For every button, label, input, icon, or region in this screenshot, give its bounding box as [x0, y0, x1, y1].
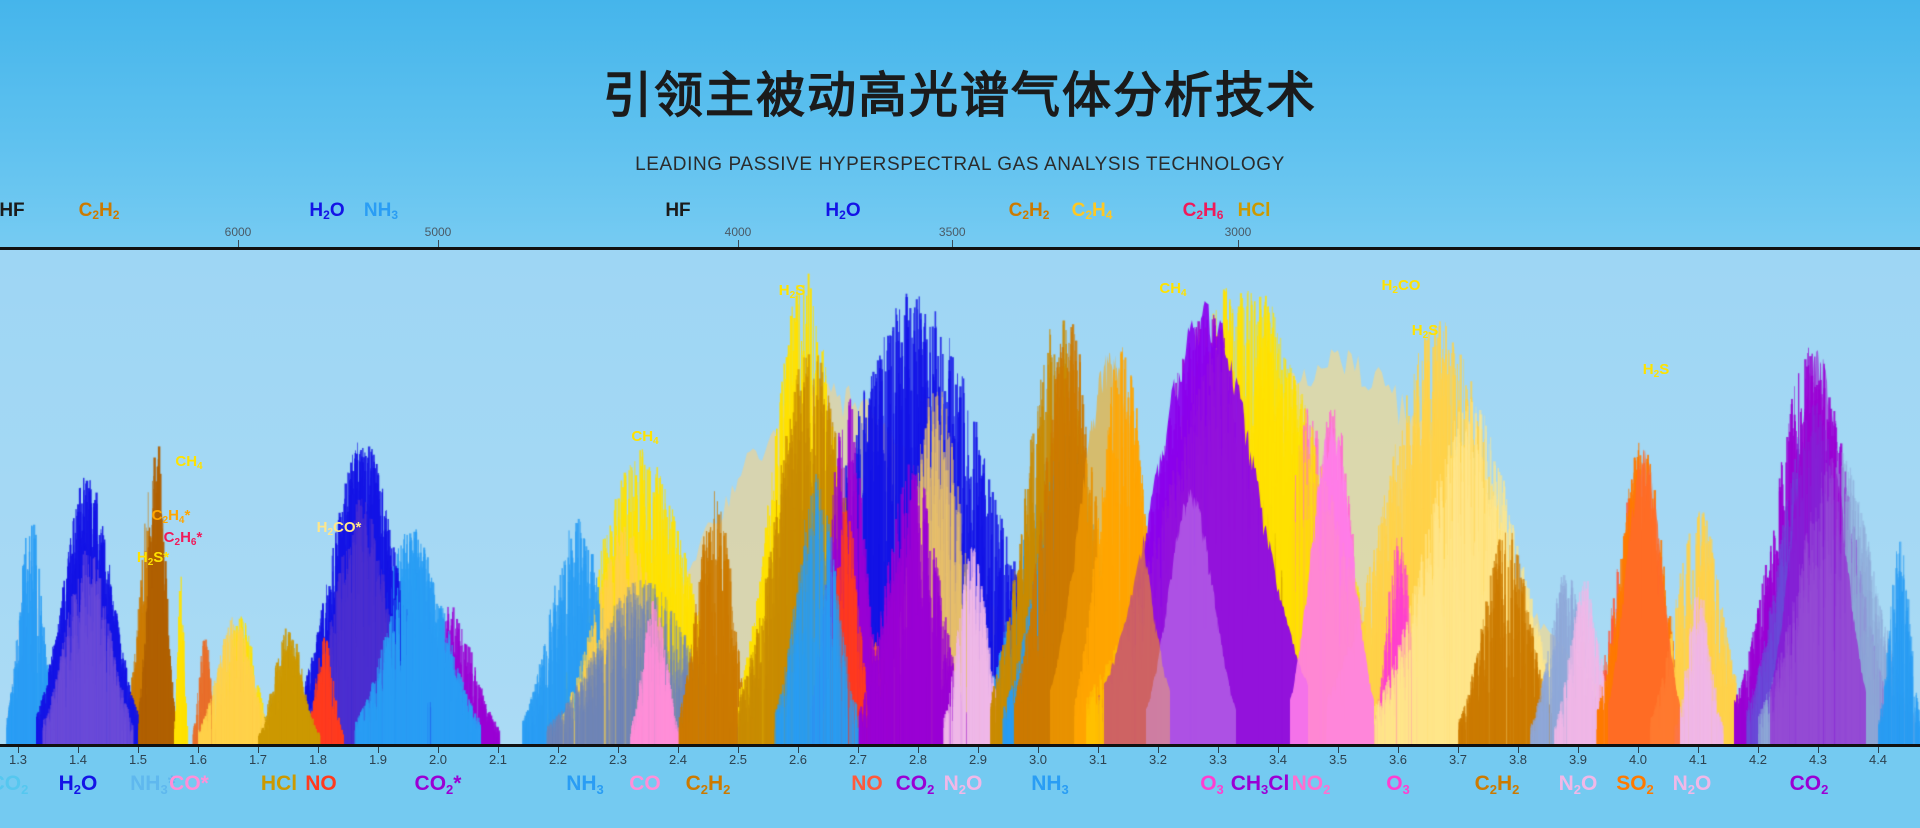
- top-tick-label-4000: 4000: [725, 225, 752, 239]
- top-gas-label-h2o: H2O: [825, 200, 860, 222]
- top-tick-label-6000: 6000: [225, 225, 252, 239]
- bottom-gas-label-n2o: N2O: [944, 772, 983, 796]
- spectrum-plot[interactable]: CH4C2H4*C2H6*H2S*H2CO*CH4H2SCH4H2COH2SH2…: [0, 250, 1920, 744]
- bottom-tick-label-2-4: 2.4: [669, 752, 687, 767]
- bottom-tick-mark-2-1: [498, 747, 499, 753]
- bottom-tick-mark-2-4: [678, 747, 679, 753]
- bottom-tick-label-1-5: 1.5: [129, 752, 147, 767]
- bottom-gas-label-hcl: HCl: [261, 772, 297, 796]
- bottom-tick-mark-3-2: [1158, 747, 1159, 753]
- bottom-tick-label-4-3: 4.3: [1809, 752, 1827, 767]
- bottom-tick-label-1-3: 1.3: [9, 752, 27, 767]
- bottom-tick-label-1-9: 1.9: [369, 752, 387, 767]
- bottom-tick-mark-4: [1638, 747, 1639, 753]
- bottom-tick-label-2-6: 2.6: [789, 752, 807, 767]
- top-gas-label-c2h4: C2H4: [1072, 200, 1113, 222]
- bottom-tick-mark-3-1: [1098, 747, 1099, 753]
- top-tick-label-5000: 5000: [425, 225, 452, 239]
- bottom-tick-label-3-9: 3.9: [1569, 752, 1587, 767]
- bottom-tick-label-3-8: 3.8: [1509, 752, 1527, 767]
- top-gas-label-c2h2: C2H2: [1009, 200, 1050, 222]
- bottom-tick-label-1-4: 1.4: [69, 752, 87, 767]
- bottom-gas-label-h2o: H2O: [59, 772, 98, 796]
- bottom-gas-label-co2: CO2: [0, 772, 28, 796]
- bottom-tick-label-1-6: 1.6: [189, 752, 207, 767]
- bottom-tick-mark-3: [1038, 747, 1039, 753]
- bottom-tick-label-3-7: 3.7: [1449, 752, 1467, 767]
- bottom-tick-label-2-1: 2.1: [489, 752, 507, 767]
- bottom-tick-mark-2-7: [858, 747, 859, 753]
- page-subtitle: LEADING PASSIVE HYPERSPECTRAL GAS ANALYS…: [0, 154, 1920, 176]
- bottom-gas-label-nh3: NH3: [1031, 772, 1069, 796]
- bottom-gas-label-n2o: N2O: [1673, 772, 1712, 796]
- bottom-tick-mark-3-4: [1278, 747, 1279, 753]
- bottom-tick-mark-1-6: [198, 747, 199, 753]
- bottom-tick-label-3-2: 3.2: [1149, 752, 1167, 767]
- bottom-tick-label-2-9: 2.9: [969, 752, 987, 767]
- bottom-gas-label-co2: CO2: [896, 772, 935, 796]
- bottom-gas-label-so2: SO2: [1616, 772, 1654, 796]
- bottom-tick-mark-1-8: [318, 747, 319, 753]
- top-gas-label-hcl: HCl: [1238, 200, 1271, 222]
- bottom-gas-label-co: CO*: [169, 772, 209, 796]
- top-tick-label-3500: 3500: [939, 225, 966, 239]
- bottom-gas-label-c2h2: C2H2: [1475, 772, 1520, 796]
- bottom-axis-line: [0, 744, 1920, 747]
- bottom-tick-mark-4-2: [1758, 747, 1759, 753]
- top-tick-mark-4000: [738, 240, 739, 247]
- bottom-tick-mark-2-6: [798, 747, 799, 753]
- bottom-tick-label-1-8: 1.8: [309, 752, 327, 767]
- bottom-tick-mark-2-5: [738, 747, 739, 753]
- bottom-gas-label-co2: CO2: [1790, 772, 1829, 796]
- bottom-gas-label-c2h2: C2H2: [686, 772, 731, 796]
- bottom-gas-label-n2o: N2O: [1559, 772, 1598, 796]
- bottom-gas-label-no: NO: [851, 772, 883, 796]
- top-tick-label-3000: 3000: [1225, 225, 1252, 239]
- bottom-tick-label-2-3: 2.3: [609, 752, 627, 767]
- bottom-tick-mark-1-9: [378, 747, 379, 753]
- bottom-tick-mark-2-3: [618, 747, 619, 753]
- bottom-tick-label-4: 4.0: [1629, 752, 1647, 767]
- top-tick-mark-3000: [1238, 240, 1239, 247]
- bottom-tick-label-2-8: 2.8: [909, 752, 927, 767]
- bottom-tick-label-3: 3.0: [1029, 752, 1047, 767]
- bottom-tick-label-2: 2.0: [429, 752, 447, 767]
- bottom-tick-mark-1-7: [258, 747, 259, 753]
- bottom-tick-label-3-5: 3.5: [1329, 752, 1347, 767]
- bottom-tick-mark-1-5: [138, 747, 139, 753]
- bottom-tick-label-2-7: 2.7: [849, 752, 867, 767]
- bottom-gas-label-nh3: NH3: [566, 772, 604, 796]
- bottom-tick-mark-2-9: [978, 747, 979, 753]
- top-gas-label-hf: HF: [0, 200, 25, 222]
- bottom-gas-label-ch3cl: CH3Cl: [1231, 772, 1290, 796]
- bottom-tick-mark-2: [438, 747, 439, 753]
- bottom-tick-label-1-7: 1.7: [249, 752, 267, 767]
- bottom-tick-mark-2-8: [918, 747, 919, 753]
- bottom-tick-mark-4-1: [1698, 747, 1699, 753]
- bottom-tick-label-2-5: 2.5: [729, 752, 747, 767]
- bottom-tick-label-3-1: 3.1: [1089, 752, 1107, 767]
- top-gas-label-c2h2: C2H2: [79, 200, 120, 222]
- bottom-tick-label-4-2: 4.2: [1749, 752, 1767, 767]
- bottom-tick-mark-1-3: [18, 747, 19, 753]
- bottom-tick-mark-1-4: [78, 747, 79, 753]
- bottom-tick-mark-3-9: [1578, 747, 1579, 753]
- bottom-tick-label-3-3: 3.3: [1209, 752, 1227, 767]
- top-gas-label-nh3: NH3: [364, 200, 398, 222]
- bottom-tick-mark-3-7: [1458, 747, 1459, 753]
- bottom-tick-mark-3-3: [1218, 747, 1219, 753]
- bottom-gas-label-co: CO: [629, 772, 661, 796]
- bottom-tick-label-3-4: 3.4: [1269, 752, 1287, 767]
- bottom-tick-mark-4-3: [1818, 747, 1819, 753]
- bottom-tick-label-2-2: 2.2: [549, 752, 567, 767]
- top-gas-label-h2o: H2O: [309, 200, 344, 222]
- page-title: 引领主被动高光谱气体分析技术: [0, 56, 1920, 127]
- top-tick-mark-6000: [238, 240, 239, 247]
- bottom-tick-mark-3-5: [1338, 747, 1339, 753]
- top-tick-mark-5000: [438, 240, 439, 247]
- top-tick-mark-3500: [952, 240, 953, 247]
- bottom-tick-label-3-6: 3.6: [1389, 752, 1407, 767]
- spectrum-canvas: [0, 250, 1920, 744]
- bottom-tick-label-4-4: 4.4: [1869, 752, 1887, 767]
- top-gas-label-hf: HF: [665, 200, 690, 222]
- bottom-gas-label-o3: O3: [1200, 772, 1224, 796]
- bottom-gas-label-no2: NO2: [1292, 772, 1331, 796]
- bottom-tick-mark-3-6: [1398, 747, 1399, 753]
- bottom-tick-mark-3-8: [1518, 747, 1519, 753]
- bottom-tick-label-4-1: 4.1: [1689, 752, 1707, 767]
- bottom-tick-mark-2-2: [558, 747, 559, 753]
- bottom-gas-label-o3: O3: [1386, 772, 1410, 796]
- bottom-gas-label-no: NO: [305, 772, 337, 796]
- bottom-tick-mark-4-4: [1878, 747, 1879, 753]
- bottom-gas-label-co2: CO2*: [415, 772, 462, 796]
- top-gas-label-c2h6: C2H6: [1183, 200, 1224, 222]
